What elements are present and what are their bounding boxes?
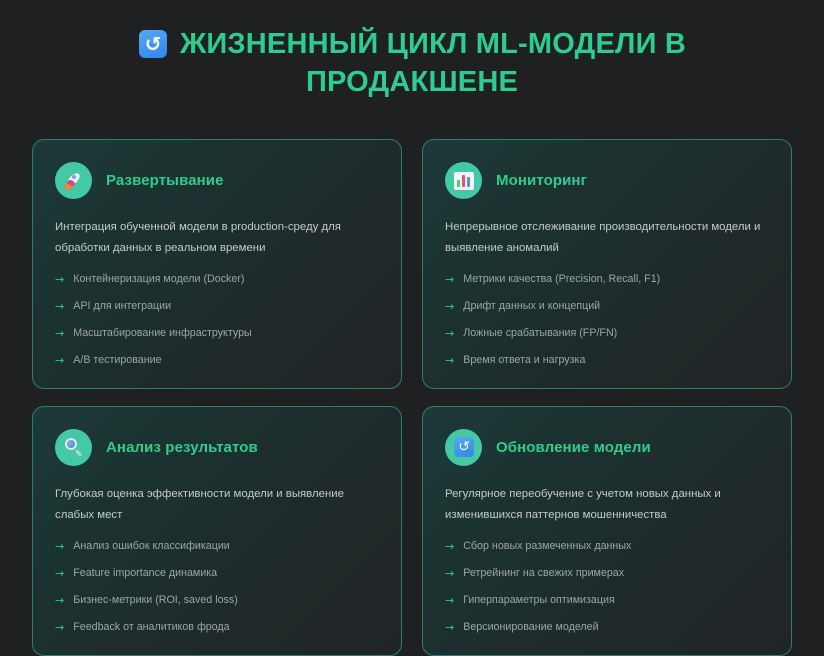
list-item: →Время ответа и нагрузка [445, 354, 769, 368]
arrow-icon: → [445, 300, 454, 314]
list-item: →Дрифт данных и концепций [445, 300, 769, 314]
page-title-text-1: ЖИЗНЕННЫЙ ЦИКЛ ML-МОДЕЛИ В [180, 28, 686, 60]
arrow-icon: → [55, 327, 64, 341]
card-bullet-list: →Сбор новых размеченных данных →Ретрейни… [445, 540, 769, 635]
list-item: →Метрики качества (Precision, Recall, F1… [445, 273, 769, 287]
card-description: Глубокая оценка эффективности модели и в… [55, 484, 379, 526]
card-header: Мониторинг [445, 162, 769, 199]
list-item: →A/B тестирование [55, 354, 379, 368]
list-item-label: Сбор новых размеченных данных [463, 540, 631, 554]
list-item: →Сбор новых размеченных данных [445, 540, 769, 554]
list-item-label: Ложные срабатывания (FP/FN) [463, 327, 617, 341]
card-title: Анализ результатов [106, 439, 258, 456]
list-item: →Гиперпараметры оптимизация [445, 594, 769, 608]
list-item: →Ложные срабатывания (FP/FN) [445, 327, 769, 341]
list-item-label: A/B тестирование [73, 354, 161, 368]
rocket-icon [55, 162, 92, 199]
arrow-icon: → [55, 540, 64, 554]
card-bullet-list: →Анализ ошибок классификации →Feature im… [55, 540, 379, 635]
arrow-icon: → [445, 327, 454, 341]
list-item-label: Контейнеризация модели (Docker) [73, 273, 244, 287]
card-title: Мониторинг [496, 172, 587, 189]
list-item-label: Гиперпараметры оптимизация [463, 594, 615, 608]
arrow-icon: → [445, 594, 454, 608]
refresh-cycle-icon [138, 30, 168, 60]
arrow-icon: → [445, 621, 454, 635]
list-item-label: Feature importance динамика [73, 567, 217, 581]
arrow-icon: → [445, 540, 454, 554]
card-results-analysis[interactable]: Анализ результатов Глубокая оценка эффек… [32, 406, 402, 656]
list-item-label: API для интеграции [73, 300, 171, 314]
lifecycle-card-grid: Развертывание Интеграция обученной модел… [32, 139, 792, 656]
list-item: →Ретрейнинг на свежих примерах [445, 567, 769, 581]
page-header: ЖИЗНЕННЫЙ ЦИКЛ ML-МОДЕЛИ В ПРОДАКШЕНЕ [0, 0, 824, 101]
bar-chart-icon [445, 162, 482, 199]
list-item-label: Версионирование моделей [463, 621, 598, 635]
card-header: Развертывание [55, 162, 379, 199]
list-item-label: Время ответа и нагрузка [463, 354, 585, 368]
list-item: →Версионирование моделей [445, 621, 769, 635]
list-item-label: Feedback от аналитиков фрода [73, 621, 229, 635]
card-deployment[interactable]: Развертывание Интеграция обученной модел… [32, 139, 402, 389]
list-item-label: Бизнес-метрики (ROI, saved loss) [73, 594, 238, 608]
card-title: Развертывание [106, 172, 224, 189]
card-title: Обновление модели [496, 439, 651, 456]
list-item: →Бизнес-метрики (ROI, saved loss) [55, 594, 379, 608]
card-description: Интеграция обученной модели в production… [55, 217, 379, 259]
refresh-cycle-icon [445, 429, 482, 466]
arrow-icon: → [445, 567, 454, 581]
list-item-label: Масштабирование инфраструктуры [73, 327, 252, 341]
list-item: →Feedback от аналитиков фрода [55, 621, 379, 635]
list-item-label: Анализ ошибок классификации [73, 540, 230, 554]
list-item: →Анализ ошибок классификации [55, 540, 379, 554]
list-item: →Feature importance динамика [55, 567, 379, 581]
card-description: Непрерывное отслеживание производительно… [445, 217, 769, 259]
arrow-icon: → [55, 567, 64, 581]
arrow-icon: → [55, 621, 64, 635]
arrow-icon: → [55, 354, 64, 368]
card-header: Анализ результатов [55, 429, 379, 466]
card-model-update[interactable]: Обновление модели Регулярное переобучени… [422, 406, 792, 656]
arrow-icon: → [55, 300, 64, 314]
card-monitoring[interactable]: Мониторинг Непрерывное отслеживание прои… [422, 139, 792, 389]
arrow-icon: → [445, 354, 454, 368]
card-header: Обновление модели [445, 429, 769, 466]
list-item-label: Ретрейнинг на свежих примерах [463, 567, 624, 581]
list-item: →Контейнеризация модели (Docker) [55, 273, 379, 287]
list-item-label: Метрики качества (Precision, Recall, F1) [463, 273, 660, 287]
card-bullet-list: →Контейнеризация модели (Docker) →API дл… [55, 273, 379, 368]
page-title-line-2: ПРОДАКШЕНЕ [70, 64, 754, 102]
card-description: Регулярное переобучение с учетом новых д… [445, 484, 769, 526]
arrow-icon: → [55, 594, 64, 608]
list-item: →API для интеграции [55, 300, 379, 314]
magnifier-icon [55, 429, 92, 466]
infographic-page: ЖИЗНЕННЫЙ ЦИКЛ ML-МОДЕЛИ В ПРОДАКШЕНЕ Ра… [0, 0, 824, 641]
arrow-icon: → [55, 273, 64, 287]
list-item: →Масштабирование инфраструктуры [55, 327, 379, 341]
list-item-label: Дрифт данных и концепций [463, 300, 600, 314]
page-title-line-1: ЖИЗНЕННЫЙ ЦИКЛ ML-МОДЕЛИ В [70, 26, 754, 64]
arrow-icon: → [445, 273, 454, 287]
card-bullet-list: →Метрики качества (Precision, Recall, F1… [445, 273, 769, 368]
